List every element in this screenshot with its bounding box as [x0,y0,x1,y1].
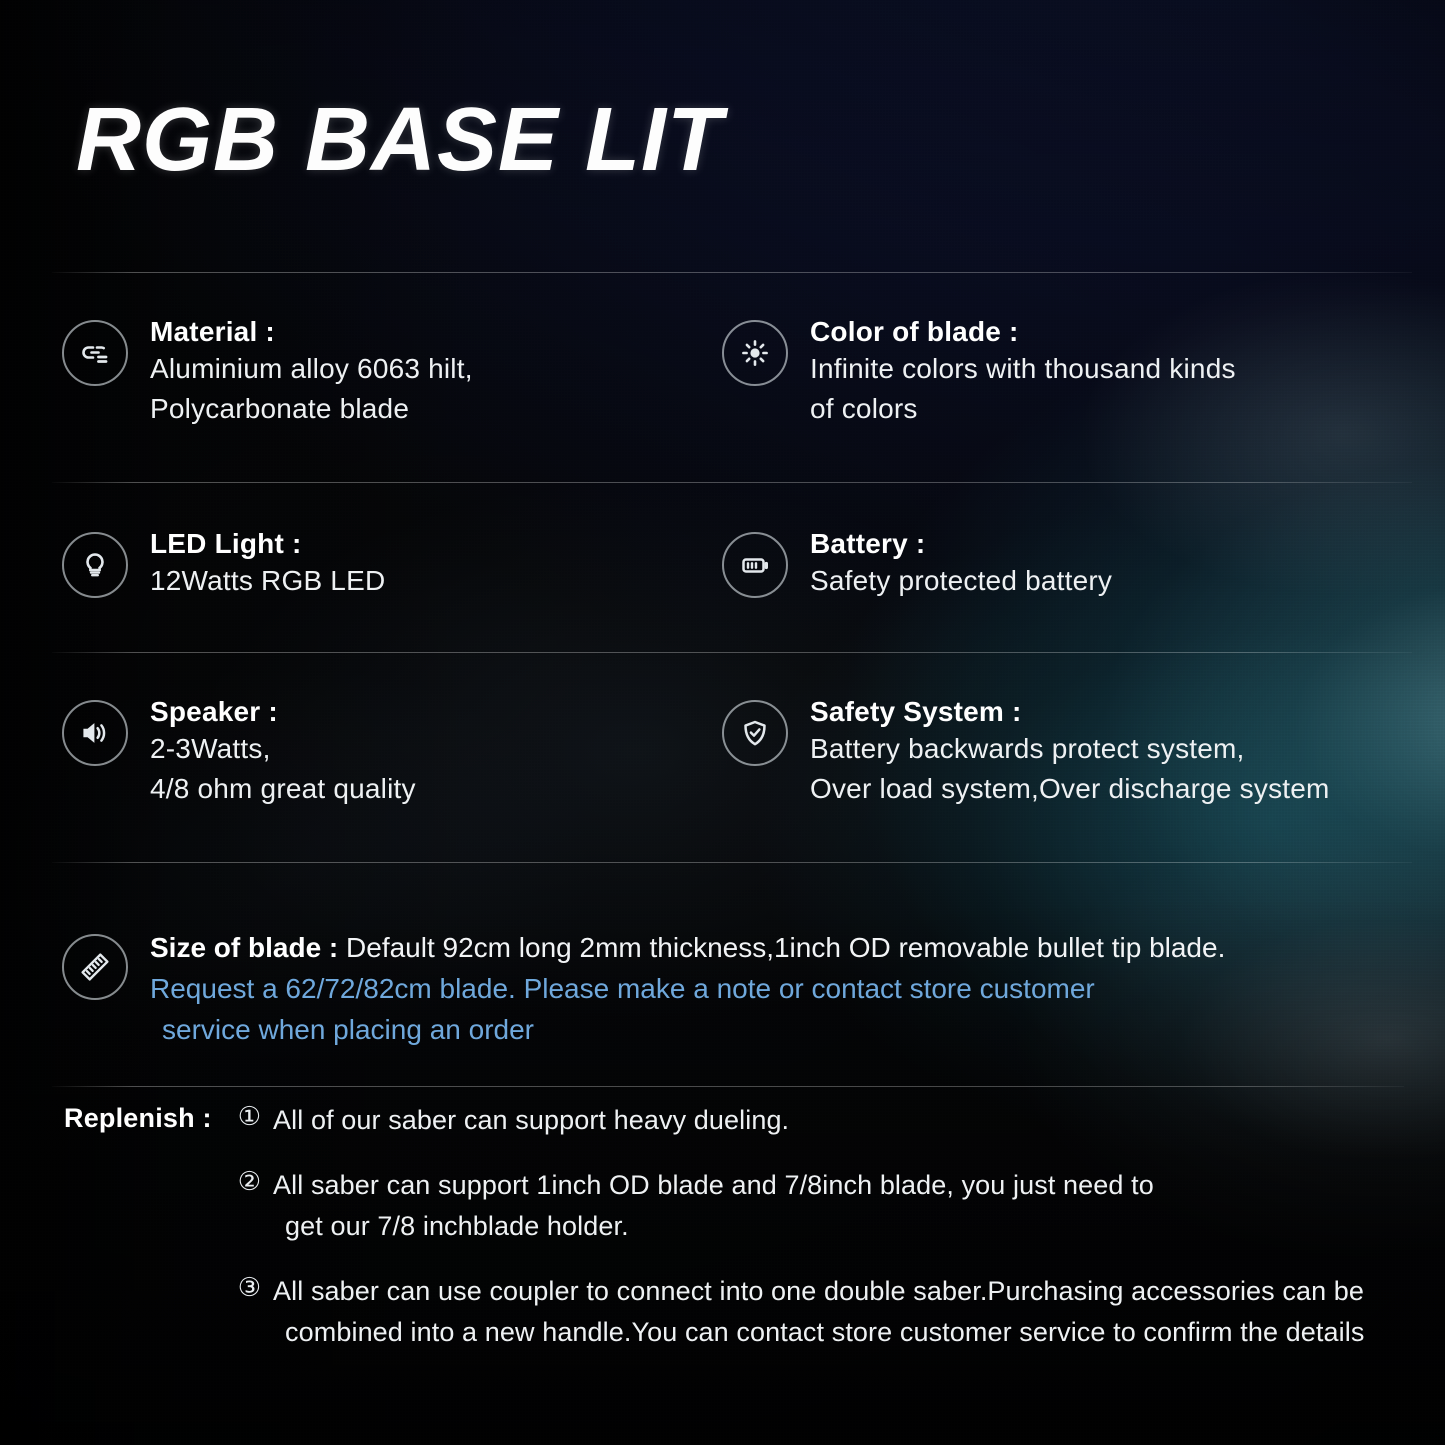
spec-line: Safety protected battery [810,561,1112,601]
speaker-volume-icon [62,700,128,766]
list-number-2: ② [238,1165,261,1199]
size-of-blade-note-line-2: service when placing an order [150,1009,1225,1050]
battery-icon [722,532,788,598]
spec-heading: Speaker : [150,694,416,729]
spec-line: 4/8 ohm great quality [150,769,416,809]
lightbulb-icon [62,532,128,598]
divider-4 [52,862,1412,863]
spec-line: Battery backwards protect system, [810,729,1330,769]
spec-heading: Material : [150,314,473,349]
list-item: ② All saber can support 1inch OD blade a… [238,1165,1365,1247]
list-text: All saber can support 1inch OD blade and… [273,1165,1154,1247]
divider-2 [52,482,1412,483]
spec-line: Infinite colors with thousand kinds [810,349,1236,389]
size-of-blade-note-line-1: Request a 62/72/82cm blade. Please make … [150,968,1225,1009]
spec-line: of colors [810,389,1236,429]
spec-item-safety-system: Safety System : Battery backwards protec… [722,692,1330,810]
size-of-blade-heading: Size of blade : [150,932,338,963]
spec-item-color-of-blade: Color of blade : Infinite colors with th… [722,312,1236,430]
size-of-blade-value: Default 92cm long 2mm thickness,1inch OD… [346,932,1225,963]
replenish-section: Replenish : ① All of our saber can suppo… [64,1100,1364,1353]
spec-item-size-of-blade: Size of blade : Default 92cm long 2mm th… [62,928,1225,1051]
list-number-3: ③ [238,1271,261,1305]
divider-5 [52,1086,1404,1087]
spec-heading: LED Light : [150,526,385,561]
spec-line: Over load system,Over discharge system [810,769,1330,809]
spec-item-speaker: Speaker : 2-3Watts, 4/8 ohm great qualit… [62,692,416,810]
spec-item-battery: Battery : Safety protected battery [722,524,1112,601]
spec-heading: Color of blade : [810,314,1236,349]
spec-line: 2-3Watts, [150,729,416,769]
spec-item-led-light: LED Light : 12Watts RGB LED [62,524,385,601]
spec-line: Aluminium alloy 6063 hilt, [150,349,473,389]
spec-heading: Battery : [810,526,1112,561]
link-chain-icon [62,320,128,386]
list-text: All of our saber can support heavy dueli… [273,1100,789,1141]
brightness-sun-icon [722,320,788,386]
list-item: ① All of our saber can support heavy due… [238,1100,1365,1141]
shield-check-icon [722,700,788,766]
ruler-icon [62,934,128,1000]
list-number-1: ① [238,1100,261,1134]
size-of-blade-main-line: Size of blade : Default 92cm long 2mm th… [150,928,1225,968]
divider-1 [52,272,1412,273]
divider-3 [52,652,1412,653]
list-text: All saber can use coupler to connect int… [273,1271,1364,1353]
page-title: RGB BASE LIT [76,95,723,185]
spec-item-material: Material : Aluminium alloy 6063 hilt, Po… [62,312,473,430]
product-spec-banner: RGB BASE LIT Material : Aluminium alloy … [0,0,1445,1445]
replenish-label: Replenish : [64,1100,212,1134]
spec-line: Polycarbonate blade [150,389,473,429]
spec-line: 12Watts RGB LED [150,561,385,601]
list-item: ③ All saber can use coupler to connect i… [238,1271,1365,1353]
spec-heading: Safety System : [810,694,1330,729]
